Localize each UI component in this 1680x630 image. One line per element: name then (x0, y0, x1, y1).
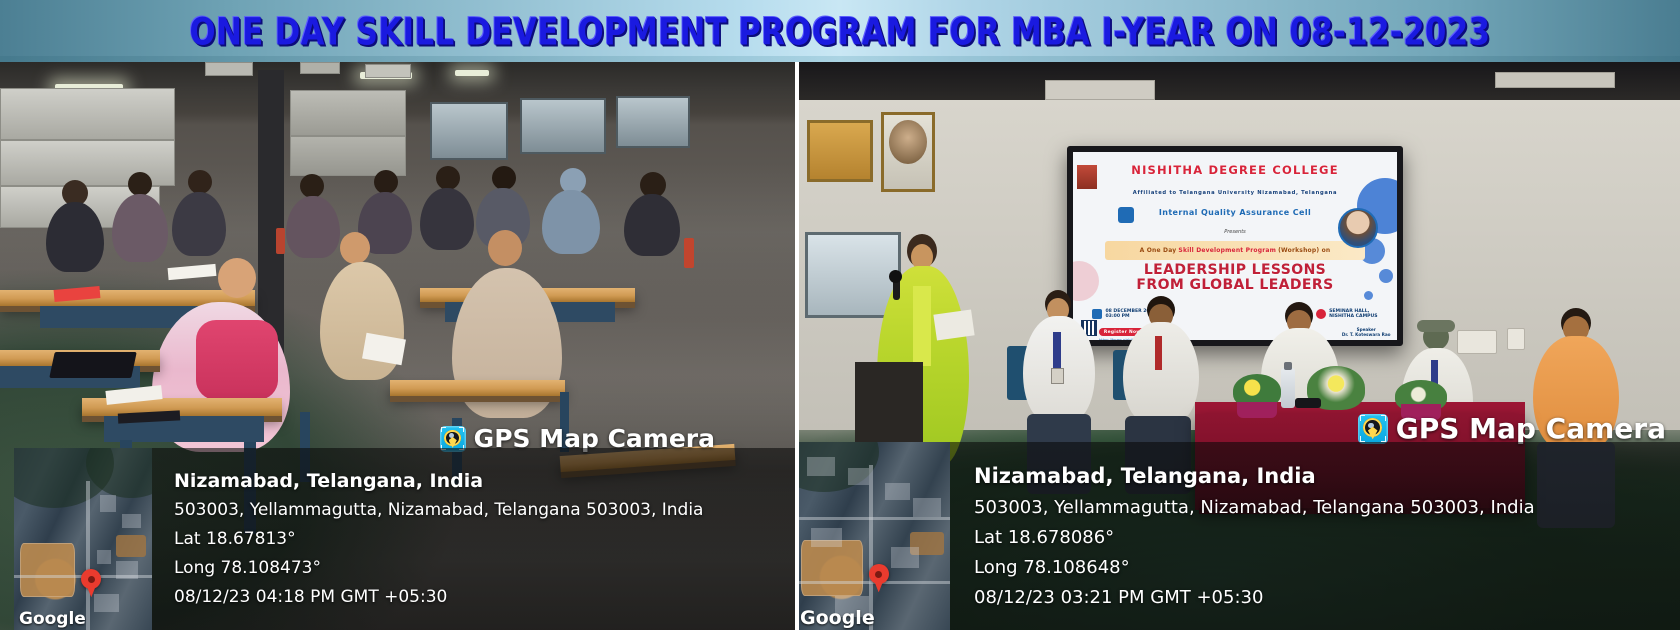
gps-text-block-left: Nizamabad, Telangana, India 503003, Yell… (152, 448, 703, 630)
gps-place: Nizamabad, Telangana, India (974, 460, 1535, 493)
gps-latitude: Lat 18.678086° (974, 523, 1535, 553)
ceiling-vent (1045, 80, 1155, 100)
map-location-pin (81, 569, 101, 597)
photo-collage: GPS Map Camera (0, 62, 1680, 630)
gps-latitude: Lat 18.67813° (174, 525, 703, 554)
slide-speaker-name: Dr. T. Koteswara Rao (1342, 332, 1391, 337)
gps-brand-right: GPS Map Camera (1358, 412, 1666, 445)
person-head (436, 166, 460, 190)
map-building (122, 514, 141, 529)
gps-brand-label: GPS Map Camera (1396, 412, 1666, 445)
framed-picture (807, 120, 873, 182)
poster-page: ONE DAY SKILL DEVELOPMENT PROGRAM FOR MB… (0, 0, 1680, 630)
ceiling-light (455, 70, 489, 76)
desk (390, 380, 565, 396)
portrait-face (889, 120, 927, 164)
gps-timestamp: 08/12/23 03:21 PM GMT +05:30 (974, 583, 1535, 613)
guest-lanyard (1053, 332, 1061, 368)
person-body (286, 196, 340, 258)
map-road (869, 465, 873, 630)
map-building (811, 528, 842, 547)
speaker-paper (933, 309, 974, 340)
speaker-saree-drape (913, 286, 931, 366)
person-head (218, 258, 256, 298)
focus-corner-icon (1381, 436, 1386, 441)
slide-affiliation: Affiliated to Telangana University Nizam… (1073, 190, 1397, 196)
focus-corner-icon (1360, 415, 1365, 420)
person-body (542, 190, 600, 254)
person-head (128, 172, 152, 196)
slide-venue: SEMINAR HALL, NISHITHA CAMPUS (1316, 309, 1377, 319)
slide-venue-line2: NISHITHA CAMPUS (1329, 314, 1377, 319)
person-body (420, 188, 474, 250)
person-head (188, 170, 212, 194)
map-building (807, 457, 835, 476)
slide-title-line1: LEADERSHIP LESSONS (1086, 263, 1384, 278)
map-building (97, 550, 111, 565)
speaker-photo (1338, 208, 1378, 248)
page-title: ONE DAY SKILL DEVELOPMENT PROGRAM FOR MB… (59, 0, 1621, 62)
map-building (100, 495, 117, 511)
ceiling-vent (365, 64, 411, 78)
map-road (795, 517, 950, 520)
person-body (46, 202, 104, 272)
right-photo: NISHITHA DEGREE COLLEGE Affiliated to Te… (795, 62, 1680, 630)
slide-program-highlight: Skill Development Program (1178, 247, 1276, 254)
cupboard (290, 90, 406, 136)
window (616, 96, 690, 148)
bottle-cap (1284, 362, 1292, 370)
window (430, 102, 508, 160)
map-location-pin (869, 564, 889, 592)
focus-corner-icon (1360, 436, 1365, 441)
person-head (300, 174, 324, 198)
cupboard (0, 88, 175, 140)
map-ground-field (20, 543, 75, 598)
map-thumbnail-left[interactable]: Google (14, 448, 152, 630)
photo-divider (795, 62, 799, 630)
gps-longitude: Long 78.108473° (174, 554, 703, 583)
laptop (49, 352, 137, 378)
presentation-slide: NISHITHA DEGREE COLLEGE Affiliated to Te… (1073, 152, 1397, 340)
slide-program-ribbon: A One Day Skill Development Program (Wor… (1105, 241, 1364, 260)
map-ground-field (116, 535, 146, 557)
person-head (340, 232, 370, 264)
person-head (488, 230, 522, 266)
google-watermark: Google (800, 607, 875, 629)
focus-corner-icon (1381, 415, 1386, 420)
window (520, 98, 606, 154)
person-head (374, 170, 398, 194)
slide-speaker: Speaker Dr. T. Koteswara Rao (1342, 327, 1391, 337)
person-body (624, 194, 680, 256)
person-torso (196, 320, 278, 400)
gps-address: 503003, Yellammagutta, Nizamabad, Telang… (174, 496, 703, 525)
ceiling-vent (300, 62, 340, 74)
ceiling-vent (1495, 72, 1615, 88)
gps-info-panel-right: Google Nizamabad, Telangana, India 50300… (795, 442, 1680, 630)
google-watermark: Google (19, 609, 86, 629)
calendar-icon (1092, 309, 1102, 319)
gps-map-camera-icon (1358, 414, 1388, 444)
slide-meta: 08 DECEMBER 2023 03:00 PM SEMINAR HALL, … (1092, 309, 1377, 319)
switch-board (1457, 330, 1497, 354)
slide-program-suffix: (Workshop) on (1278, 247, 1330, 254)
map-road (86, 481, 90, 630)
paper (168, 264, 217, 280)
map-building (116, 561, 138, 579)
person-body (172, 192, 226, 256)
slide-college-name: NISHITHA DEGREE COLLEGE (1073, 163, 1397, 177)
person-body (112, 194, 168, 262)
flower-pot (1237, 402, 1277, 418)
map-building (848, 468, 870, 485)
map-building (891, 547, 919, 568)
ceiling-vent (205, 62, 253, 76)
gps-place: Nizamabad, Telangana, India (174, 466, 703, 496)
gps-timestamp: 08/12/23 04:18 PM GMT +05:30 (174, 583, 703, 612)
map-building (913, 498, 941, 517)
guest-id-card (1051, 368, 1064, 384)
slide-title: LEADERSHIP LESSONS FROM GLOBAL LEADERS (1086, 263, 1384, 293)
microphone-head (889, 270, 902, 283)
bottle (276, 228, 285, 254)
slide-program-prefix: A One Day (1140, 247, 1177, 254)
focus-corner-icon (459, 427, 464, 432)
map-building (885, 483, 910, 500)
water-bottle (1281, 368, 1295, 408)
focus-corner-icon (441, 427, 446, 432)
mobile-phone (1295, 398, 1321, 408)
banner-header: ONE DAY SKILL DEVELOPMENT PROGRAM FOR MB… (0, 0, 1680, 62)
left-photo: GPS Map Camera (0, 62, 795, 630)
gps-info-panel-left: Google Nizamabad, Telangana, India 50300… (14, 448, 795, 630)
person-head (492, 166, 516, 190)
guest-lanyard (1155, 336, 1162, 370)
gps-address: 503003, Yellammagutta, Nizamabad, Telang… (974, 493, 1535, 523)
projector-screen: NISHITHA DEGREE COLLEGE Affiliated to Te… (1067, 146, 1403, 346)
location-icon (1316, 309, 1326, 319)
guest-cap (1417, 320, 1455, 332)
bottle (684, 238, 694, 268)
gps-longitude: Long 78.108648° (974, 553, 1535, 583)
map-thumbnail-right[interactable]: Google (795, 442, 950, 630)
slide-title-line2: FROM GLOBAL LEADERS (1086, 278, 1384, 293)
switch-board (1507, 328, 1525, 350)
map-ground-field (801, 540, 863, 596)
gps-text-block-right: Nizamabad, Telangana, India 503003, Yell… (950, 442, 1535, 630)
